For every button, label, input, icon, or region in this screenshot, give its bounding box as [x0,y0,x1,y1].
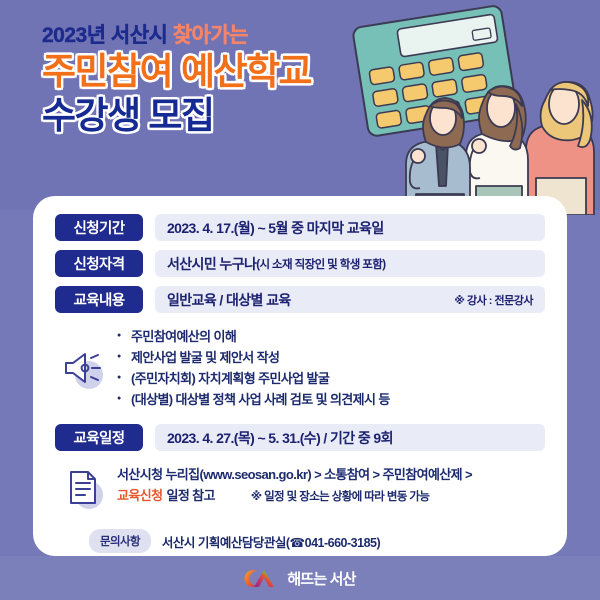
headline-line1-coral: 찾아가는 [173,24,248,47]
info-row-eligibility: 신청자격 서산시민 누구나 (시 소재 직장인 및 학생 포함) [55,250,545,277]
value-course-content: 일반교육 / 대상별 교육 ※ 강사 : 전문강사 [155,286,545,313]
headline-line-3: 수강생 모집 [42,95,402,136]
inquiry-badge: 문의사항 [89,529,151,553]
value-eligibility: 서산시민 누구나 (시 소재 직장인 및 학생 포함) [155,250,545,277]
inquiry-block: 문의사항 서산시 기획예산담당관실(☎041-660-3185) [55,529,545,553]
label-course-content: 교육내용 [55,286,143,313]
seosan-sun-mountain-logo-icon [244,566,278,590]
list-item: 제안사업 발굴 및 제안서 작성 [117,347,545,368]
megaphone-icon-wrap [55,343,111,393]
curriculum-bullet-list: 주민참여예산의 이해 제안사업 발굴 및 제안서 작성 (주민자치회) 자치계획… [117,326,545,410]
inquiry-text[interactable]: 서산시 기획예산담당관실(☎041-660-3185) [162,532,380,551]
headline-line-1: 2023년 서산시 찾아가는 [42,24,402,47]
web-info-accent[interactable]: 교육신청 [117,486,162,507]
list-item: 주민참여예산의 이해 [117,326,545,347]
web-info-block: 서산시청 누리집(www.seosan.go.kr) > 소통참여 > 주민참여… [55,463,545,513]
web-info-rest: 일정 참고 [166,486,214,507]
headline-block: 2023년 서산시 찾아가는 주민참여 예산학교 수강생 모집 [42,24,402,136]
web-info-note: ※ 일정 및 장소는 상황에 따라 변동 가능 [251,488,429,506]
label-eligibility: 신청자격 [55,250,143,277]
list-item: (대상별) 대상별 정책 사업 사례 검토 및 의견제시 등 [117,389,545,410]
document-icon-wrap [55,463,111,513]
footer-slogan: 해뜨는 서산 [287,568,355,589]
value-eligibility-main: 서산시민 누구나 [167,254,256,274]
value-course-content-note: ※ 강사 : 전문강사 [454,292,533,308]
headline-line1-navy: 2023년 서산시 [42,24,167,47]
value-schedule-text: 2023. 4. 27.(목) ~ 5. 31.(수) / 기간 중 9회 [167,428,393,448]
content-card: 신청기간 2023. 4. 17.(월) ~ 5월 중 마지막 교육일 신청자격… [33,196,567,556]
web-info-lines: 서산시청 누리집(www.seosan.go.kr) > 소통참여 > 주민참여… [117,463,545,507]
value-application-period: 2023. 4. 17.(월) ~ 5월 중 마지막 교육일 [155,214,545,241]
value-schedule: 2023. 4. 27.(목) ~ 5. 31.(수) / 기간 중 9회 [155,424,545,451]
document-icon [68,470,98,506]
web-info-path[interactable]: 서산시청 누리집(www.seosan.go.kr) > 소통참여 > 주민참여… [117,465,545,486]
list-item: (주민자치회) 자치계획형 주민사업 발굴 [117,368,545,389]
megaphone-icon [63,351,103,385]
label-schedule: 교육일정 [55,424,143,451]
label-application-period: 신청기간 [55,214,143,241]
value-course-content-text: 일반교육 / 대상별 교육 [167,290,291,310]
info-row-course-content: 교육내용 일반교육 / 대상별 교육 ※ 강사 : 전문강사 [55,286,545,313]
value-application-period-text: 2023. 4. 17.(월) ~ 5월 중 마지막 교육일 [167,218,384,238]
poster-root: 2023년 서산시 찾아가는 주민참여 예산학교 수강생 모집 신청기간 202… [0,0,600,600]
web-info-line-2: 교육신청 일정 참고 ※ 일정 및 장소는 상황에 따라 변동 가능 [117,486,545,507]
curriculum-block: 주민참여예산의 이해 제안사업 발굴 및 제안서 작성 (주민자치회) 자치계획… [55,326,545,410]
info-row-schedule: 교육일정 2023. 4. 27.(목) ~ 5. 31.(수) / 기간 중 … [55,424,545,451]
info-row-application-period: 신청기간 2023. 4. 17.(월) ~ 5월 중 마지막 교육일 [55,214,545,241]
headline-line-2: 주민참여 예산학교 [42,51,402,92]
value-eligibility-small: (시 소재 직장인 및 학생 포함) [256,256,385,272]
footer-bar: 해뜨는 서산 [0,556,600,600]
